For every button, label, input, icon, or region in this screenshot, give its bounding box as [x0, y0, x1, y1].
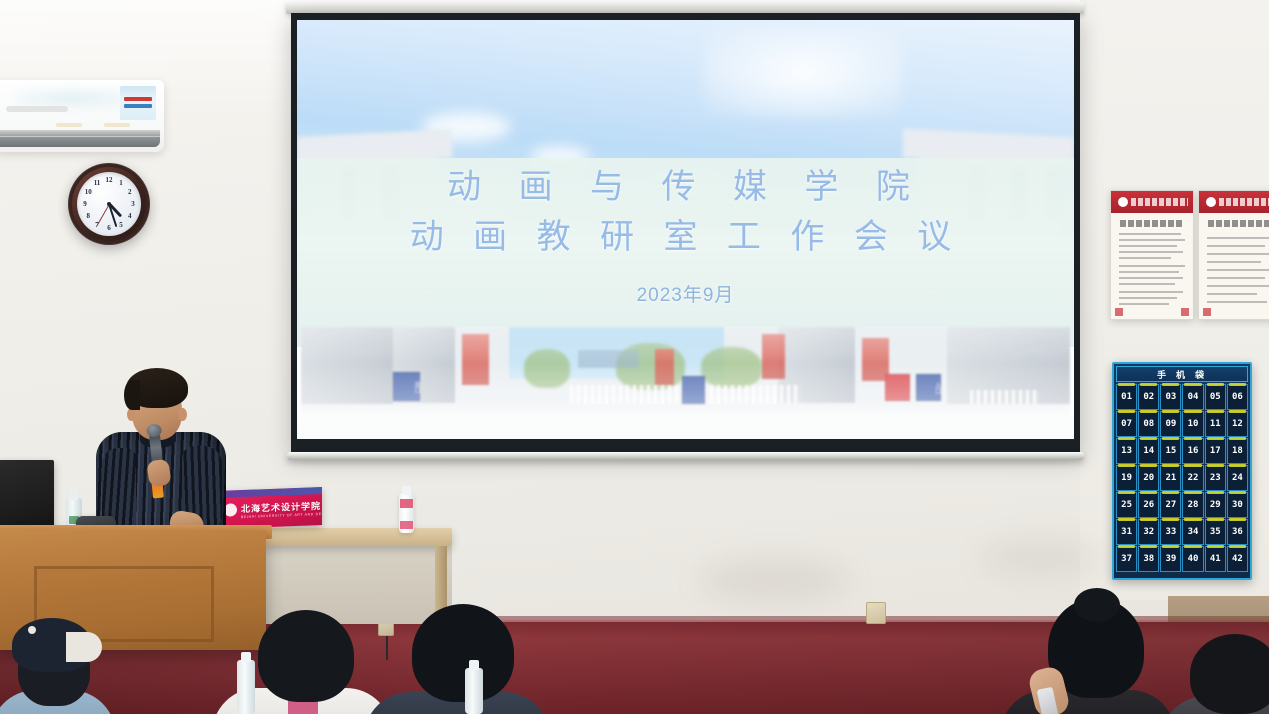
desktop-monitor	[0, 460, 54, 532]
water-bottle	[399, 493, 414, 533]
clock-numeral: 5	[116, 221, 126, 229]
poster-header	[1199, 191, 1269, 213]
phone-pocket-header-char: 手	[1157, 368, 1169, 381]
water-bottle	[465, 668, 483, 714]
presenter-hand-holding-mic	[146, 459, 171, 488]
clock-numeral: 1	[116, 179, 126, 187]
phone-pocket[interactable]: 09	[1160, 411, 1181, 437]
presenter	[96, 366, 226, 538]
photo-haze-overlay	[301, 327, 1070, 417]
phone-pocket[interactable]: 07	[1116, 411, 1137, 437]
clock-numeral: 8	[83, 212, 93, 220]
phone-pocket-header: 手机袋	[1116, 366, 1248, 382]
phone-pocket[interactable]: 29	[1205, 492, 1226, 518]
door-frame	[1168, 596, 1269, 622]
phone-pocket[interactable]: 10	[1182, 411, 1203, 437]
screen-surface: 动 画 与 传 媒 学 院 动 画 教 研 室 工 作 会 议 2023年9月	[297, 20, 1074, 439]
presentation-slide: 动 画 与 传 媒 学 院 动 画 教 研 室 工 作 会 议 2023年9月	[297, 20, 1074, 439]
ac-indicator	[56, 123, 82, 127]
poster-rules-2	[1198, 190, 1269, 320]
school-name-text	[1219, 198, 1269, 206]
slide-title-line1: 动 画 与 传 媒 学 院	[297, 162, 1074, 212]
clock-face: 121234567891011	[77, 172, 141, 236]
ac-grille	[6, 106, 68, 112]
clock-center-pin	[107, 202, 111, 206]
poster-title	[1208, 220, 1269, 227]
phone-pocket[interactable]: 30	[1227, 492, 1248, 518]
phone-pocket[interactable]: 26	[1138, 492, 1159, 518]
phone-pocket[interactable]: 15	[1160, 438, 1181, 464]
school-logo-icon	[1206, 197, 1216, 207]
ac-air-vent	[0, 130, 160, 147]
slide-bottom-margin	[297, 417, 1074, 439]
phone-pocket[interactable]: 14	[1138, 438, 1159, 464]
school-logo-icon	[1118, 197, 1128, 207]
phone-pocket[interactable]: 34	[1182, 519, 1203, 545]
phone-pocket[interactable]: 22	[1182, 465, 1203, 491]
campus-gate-photo: 出口 入口	[301, 327, 1070, 417]
phone-pocket[interactable]: 38	[1138, 546, 1159, 572]
phone-pocket[interactable]: 39	[1160, 546, 1181, 572]
wall-smudge	[700, 560, 850, 600]
phone-pocket[interactable]: 18	[1227, 438, 1248, 464]
clock-numeral: 12	[104, 176, 114, 184]
phone-pocket[interactable]: 28	[1182, 492, 1203, 518]
phone-pocket[interactable]: 17	[1205, 438, 1226, 464]
clock-hand-second	[96, 204, 109, 226]
phone-pocket[interactable]: 11	[1205, 411, 1226, 437]
projection-screen: 动 画 与 传 媒 学 院 动 画 教 研 室 工 作 会 议 2023年9月	[291, 13, 1080, 453]
phone-pocket[interactable]: 42	[1227, 546, 1248, 572]
screen-weight-bar	[287, 452, 1084, 460]
school-name-text	[1131, 198, 1188, 206]
phone-pocket[interactable]: 19	[1116, 465, 1137, 491]
phone-pocket-header-char: 袋	[1195, 368, 1207, 381]
phone-pocket-board: 手机袋 010203040506070809101112131415161718…	[1112, 362, 1252, 580]
bottle-cap	[469, 660, 479, 670]
wall-smudge	[980, 540, 1100, 576]
phone-pocket[interactable]: 24	[1227, 465, 1248, 491]
head	[1190, 634, 1269, 714]
presenter-hair-side	[124, 380, 140, 410]
water-bottle	[237, 660, 255, 714]
clock-numeral: 9	[80, 200, 90, 208]
poster-title	[1120, 220, 1184, 227]
clock-numeral: 11	[92, 179, 102, 187]
ear	[178, 408, 187, 421]
bottle-cap	[402, 486, 411, 495]
clock-numeral: 6	[104, 224, 114, 232]
phone-pocket[interactable]: 05	[1205, 384, 1226, 410]
phone-pocket[interactable]: 02	[1138, 384, 1159, 410]
phone-pocket[interactable]: 35	[1205, 519, 1226, 545]
phone-pocket[interactable]: 08	[1138, 411, 1159, 437]
phone-pocket[interactable]: 40	[1182, 546, 1203, 572]
wall-clock: 121234567891011	[68, 163, 150, 245]
slide-title-line2: 动 画 教 研 室 工 作 会 议	[297, 212, 1074, 262]
phone-pocket[interactable]: 01	[1116, 384, 1137, 410]
phone-pocket[interactable]: 25	[1116, 492, 1137, 518]
head	[258, 610, 354, 702]
lecture-hall-scene: 121234567891011	[0, 0, 1269, 714]
phone-pocket-header-char: 机	[1176, 368, 1188, 381]
ac-indicator	[104, 123, 130, 127]
phone-pocket[interactable]: 16	[1182, 438, 1203, 464]
phone-pocket[interactable]: 13	[1116, 438, 1137, 464]
clock-numeral: 3	[128, 200, 138, 208]
name-placard: 北海艺术设计学院 BEIHAI UNIVERSITY OF ART AND DE…	[216, 487, 322, 529]
sky-glow	[703, 28, 903, 118]
phone-pocket[interactable]: 20	[1138, 465, 1159, 491]
bottle-cap	[241, 652, 251, 662]
phone-pocket[interactable]: 27	[1160, 492, 1181, 518]
phone-pocket[interactable]: 37	[1116, 546, 1137, 572]
phone-pocket[interactable]: 32	[1138, 519, 1159, 545]
clock-numeral: 2	[125, 188, 135, 196]
side-desk	[262, 528, 452, 546]
poster-rules-1	[1110, 190, 1194, 320]
slide-date: 2023年9月	[297, 280, 1074, 307]
air-conditioner	[0, 80, 164, 152]
phone-pocket[interactable]: 23	[1205, 465, 1226, 491]
phone-pocket[interactable]: 04	[1182, 384, 1203, 410]
cap-brim	[66, 632, 102, 662]
clock-numeral: 4	[125, 212, 135, 220]
wall-outlet	[866, 602, 886, 624]
head	[412, 604, 514, 702]
power-cord	[386, 636, 388, 660]
phone-pocket[interactable]: 21	[1160, 465, 1181, 491]
slide-title: 动 画 与 传 媒 学 院 动 画 教 研 室 工 作 会 议	[297, 162, 1074, 262]
phone-pocket-grid: 0102030405060708091011121314151617181920…	[1116, 384, 1248, 572]
hair-bun	[1074, 588, 1120, 622]
phone-pocket[interactable]: 33	[1160, 519, 1181, 545]
microphone-head	[146, 423, 162, 437]
clock-numeral: 10	[83, 188, 93, 196]
phone-pocket[interactable]: 31	[1116, 519, 1137, 545]
cap-button	[28, 626, 36, 634]
ac-label-sticker	[120, 86, 156, 120]
phone-pocket[interactable]: 41	[1205, 546, 1226, 572]
bottle-cap	[70, 489, 78, 500]
phone-pocket[interactable]: 36	[1227, 519, 1248, 545]
phone-pocket[interactable]: 12	[1227, 411, 1248, 437]
poster-header	[1111, 191, 1193, 213]
ac-panel-tint	[14, 88, 134, 108]
phone-pocket[interactable]: 06	[1227, 384, 1248, 410]
phone-pocket[interactable]: 03	[1160, 384, 1181, 410]
